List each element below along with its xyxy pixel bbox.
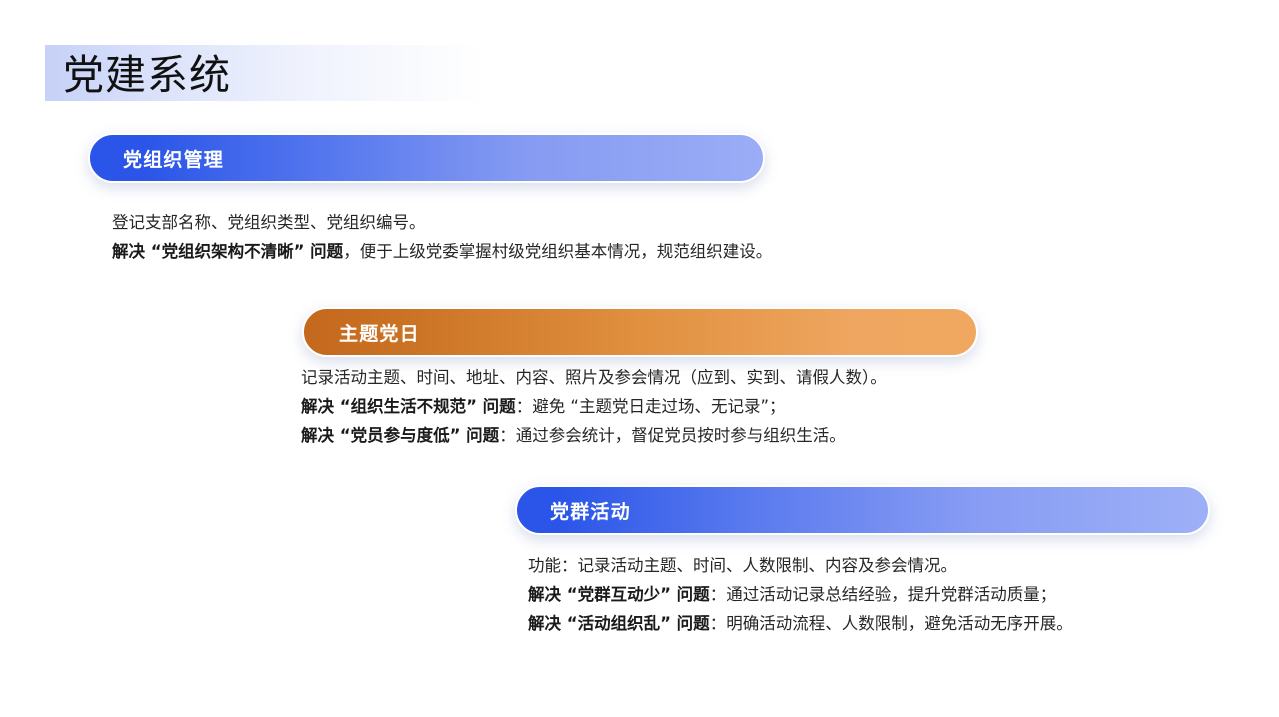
body-text-emphasis: 解决 “党员参与度低” 问题 (301, 426, 499, 445)
body-text-emphasis: 解决 “活动组织乱” 问题 (528, 614, 710, 633)
body-text: 登记支部名称、党组织类型、党组织编号。 (112, 213, 426, 232)
body-text-emphasis: 解决 “党群互动少” 问题 (528, 585, 710, 604)
body-line: 解决 “组织生活不规范” 问题：避免 “主题党日走过场、无记录”； (301, 392, 887, 421)
pill-label: 党群活动 (550, 497, 631, 524)
body-line: 记录活动主题、时间、地址、内容、照片及参会情况（应到、实到、请假人数）。 (301, 363, 887, 392)
section-body-theme-party-day: 记录活动主题、时间、地址、内容、照片及参会情况（应到、实到、请假人数）。解决 “… (301, 363, 887, 450)
body-text: ：通过参会统计，督促党员按时参与组织生活。 (499, 426, 846, 445)
body-text: 记录活动主题、时间、地址、内容、照片及参会情况（应到、实到、请假人数）。 (301, 368, 887, 387)
body-text: ：通过活动记录总结经验，提升党群活动质量； (710, 585, 1057, 604)
body-line: 解决 “党组织架构不清晰” 问题，便于上级党委掌握村级党组织基本情况，规范组织建… (112, 237, 772, 266)
pill-label: 党组织管理 (123, 145, 224, 172)
body-text: ：明确活动流程、人数限制，避免活动无序开展。 (710, 614, 1073, 633)
body-line: 登记支部名称、党组织类型、党组织编号。 (112, 208, 772, 237)
section-header-pill-theme-party-day[interactable]: 主题党日 (302, 307, 978, 357)
section-body-party-mass-activities: 功能：记录活动主题、时间、人数限制、内容及参会情况。解决 “党群互动少” 问题：… (528, 551, 1073, 638)
section-body-party-organization-management: 登记支部名称、党组织类型、党组织编号。解决 “党组织架构不清晰” 问题，便于上级… (112, 208, 772, 266)
body-text-emphasis: 解决 “党组织架构不清晰” 问题 (112, 242, 343, 261)
body-line: 功能：记录活动主题、时间、人数限制、内容及参会情况。 (528, 551, 1073, 580)
page-title: 党建系统 (63, 48, 231, 102)
body-text: ，便于上级党委掌握村级党组织基本情况，规范组织建设。 (343, 242, 772, 261)
section-header-pill-party-mass-activities[interactable]: 党群活动 (515, 485, 1210, 535)
body-text-emphasis: 解决 “组织生活不规范” 问题 (301, 397, 516, 416)
section-header-pill-party-organization-management[interactable]: 党组织管理 (88, 133, 765, 183)
body-line: 解决 “活动组织乱” 问题：明确活动流程、人数限制，避免活动无序开展。 (528, 609, 1073, 638)
body-line: 解决 “党员参与度低” 问题：通过参会统计，督促党员按时参与组织生活。 (301, 421, 887, 450)
body-text: ：避免 “主题党日走过场、无记录”； (516, 397, 786, 416)
body-text: 功能：记录活动主题、时间、人数限制、内容及参会情况。 (528, 556, 957, 575)
body-line: 解决 “党群互动少” 问题：通过活动记录总结经验，提升党群活动质量； (528, 580, 1073, 609)
pill-label: 主题党日 (339, 319, 420, 346)
